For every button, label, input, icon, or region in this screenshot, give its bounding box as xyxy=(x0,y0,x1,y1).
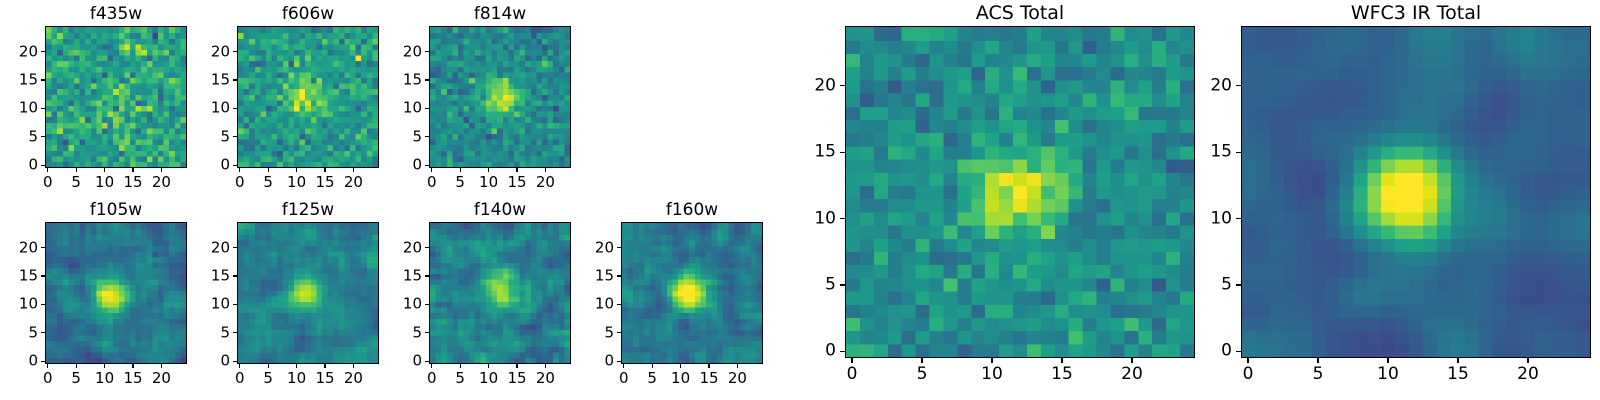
x-tickmark xyxy=(1527,358,1528,363)
y-tickmark xyxy=(1236,284,1241,285)
y-tick-label: 15 xyxy=(1210,144,1232,161)
x-tick-label: 10 xyxy=(1377,366,1399,383)
y-tickmark xyxy=(1236,152,1241,153)
y-tick-label: 20 xyxy=(1210,77,1232,94)
x-tickmark xyxy=(1457,358,1458,363)
y-tick-label: 10 xyxy=(1210,210,1232,227)
x-tick-label: 20 xyxy=(1517,366,1539,383)
panel-wfc3_ir_total: WFC3 IR Total0510152005101520 xyxy=(0,0,1600,400)
x-tickmark xyxy=(1387,358,1388,363)
y-tick-label: 0 xyxy=(1221,343,1232,360)
x-tick-label: 0 xyxy=(1243,366,1254,383)
y-tickmark xyxy=(1236,218,1241,219)
x-tick-label: 15 xyxy=(1447,366,1469,383)
x-tickmark xyxy=(1317,358,1318,363)
y-tickmark xyxy=(1236,85,1241,86)
panel-title-wfc3_ir_total: WFC3 IR Total xyxy=(1241,4,1591,23)
x-tickmark xyxy=(1247,358,1248,363)
axes-wfc3_ir_total[interactable] xyxy=(1241,26,1591,358)
x-tick-label: 5 xyxy=(1313,366,1324,383)
y-tick-label: 5 xyxy=(1221,277,1232,294)
y-tickmark xyxy=(1236,351,1241,352)
heatmap-image xyxy=(1242,27,1590,357)
